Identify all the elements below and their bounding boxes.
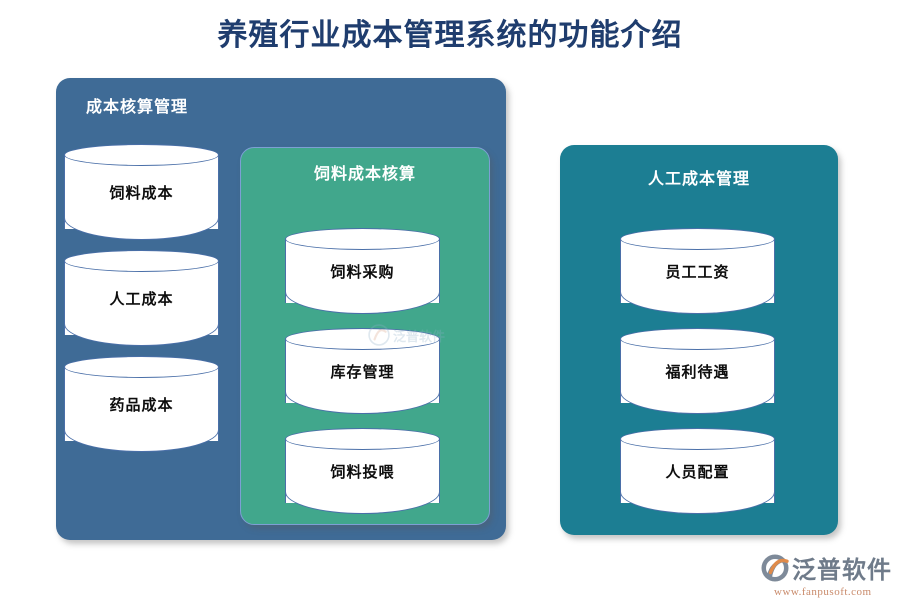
node-inventory-management[interactable]: 库存管理	[285, 328, 440, 414]
panel-labor-cost-management-title: 人工成本管理	[560, 165, 838, 189]
node-employee-salary-label: 员工工资	[620, 228, 775, 314]
node-feed-purchase[interactable]: 饲料采购	[285, 228, 440, 314]
node-inventory-management-label: 库存管理	[285, 328, 440, 414]
node-staffing[interactable]: 人员配置	[620, 428, 775, 514]
panel-feed-cost-accounting-title: 饲料成本核算	[241, 160, 489, 184]
panel-cost-accounting-title: 成本核算管理	[56, 93, 188, 117]
node-feed-feeding-label: 饲料投喂	[285, 428, 440, 514]
page-title: 养殖行业成本管理系统的功能介绍	[0, 10, 900, 54]
brand-name: 泛普软件	[792, 550, 892, 585]
node-welfare-benefits[interactable]: 福利待遇	[620, 328, 775, 414]
node-welfare-benefits-label: 福利待遇	[620, 328, 775, 414]
node-labor-cost-label: 人工成本	[64, 250, 219, 346]
brand-logo-row: 泛普软件	[760, 550, 900, 585]
node-feed-cost[interactable]: 饲料成本	[64, 144, 219, 240]
brand-logo: 泛普软件 www.fanpusoft.com	[760, 550, 900, 596]
node-feed-purchase-label: 饲料采购	[285, 228, 440, 314]
node-labor-cost[interactable]: 人工成本	[64, 250, 219, 346]
node-staffing-label: 人员配置	[620, 428, 775, 514]
node-employee-salary[interactable]: 员工工资	[620, 228, 775, 314]
node-drug-cost[interactable]: 药品成本	[64, 356, 219, 452]
node-drug-cost-label: 药品成本	[64, 356, 219, 452]
fanpu-logo-icon	[760, 553, 790, 583]
node-feed-feeding[interactable]: 饲料投喂	[285, 428, 440, 514]
brand-url: www.fanpusoft.com	[774, 586, 900, 598]
node-feed-cost-label: 饲料成本	[64, 144, 219, 240]
